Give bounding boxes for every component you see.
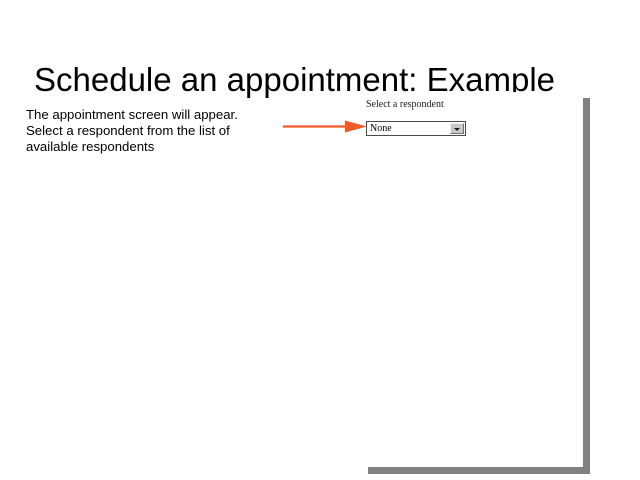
respondent-select-value: None: [367, 122, 450, 135]
screenshot-panel: [362, 92, 584, 468]
panel-shadow-bottom: [368, 467, 590, 474]
arrow-right-icon: [283, 120, 367, 133]
body-paragraph: The appointment screen will appear. Sele…: [26, 107, 254, 155]
respondent-select[interactable]: None: [366, 121, 466, 136]
panel-shadow-right: [583, 98, 590, 474]
slide-canvas: Schedule an appointment: Example The app…: [0, 0, 640, 480]
respondent-field-label: Select a respondent: [366, 99, 444, 111]
chevron-down-icon: [454, 128, 460, 131]
respondent-select-toggle[interactable]: [450, 123, 464, 134]
